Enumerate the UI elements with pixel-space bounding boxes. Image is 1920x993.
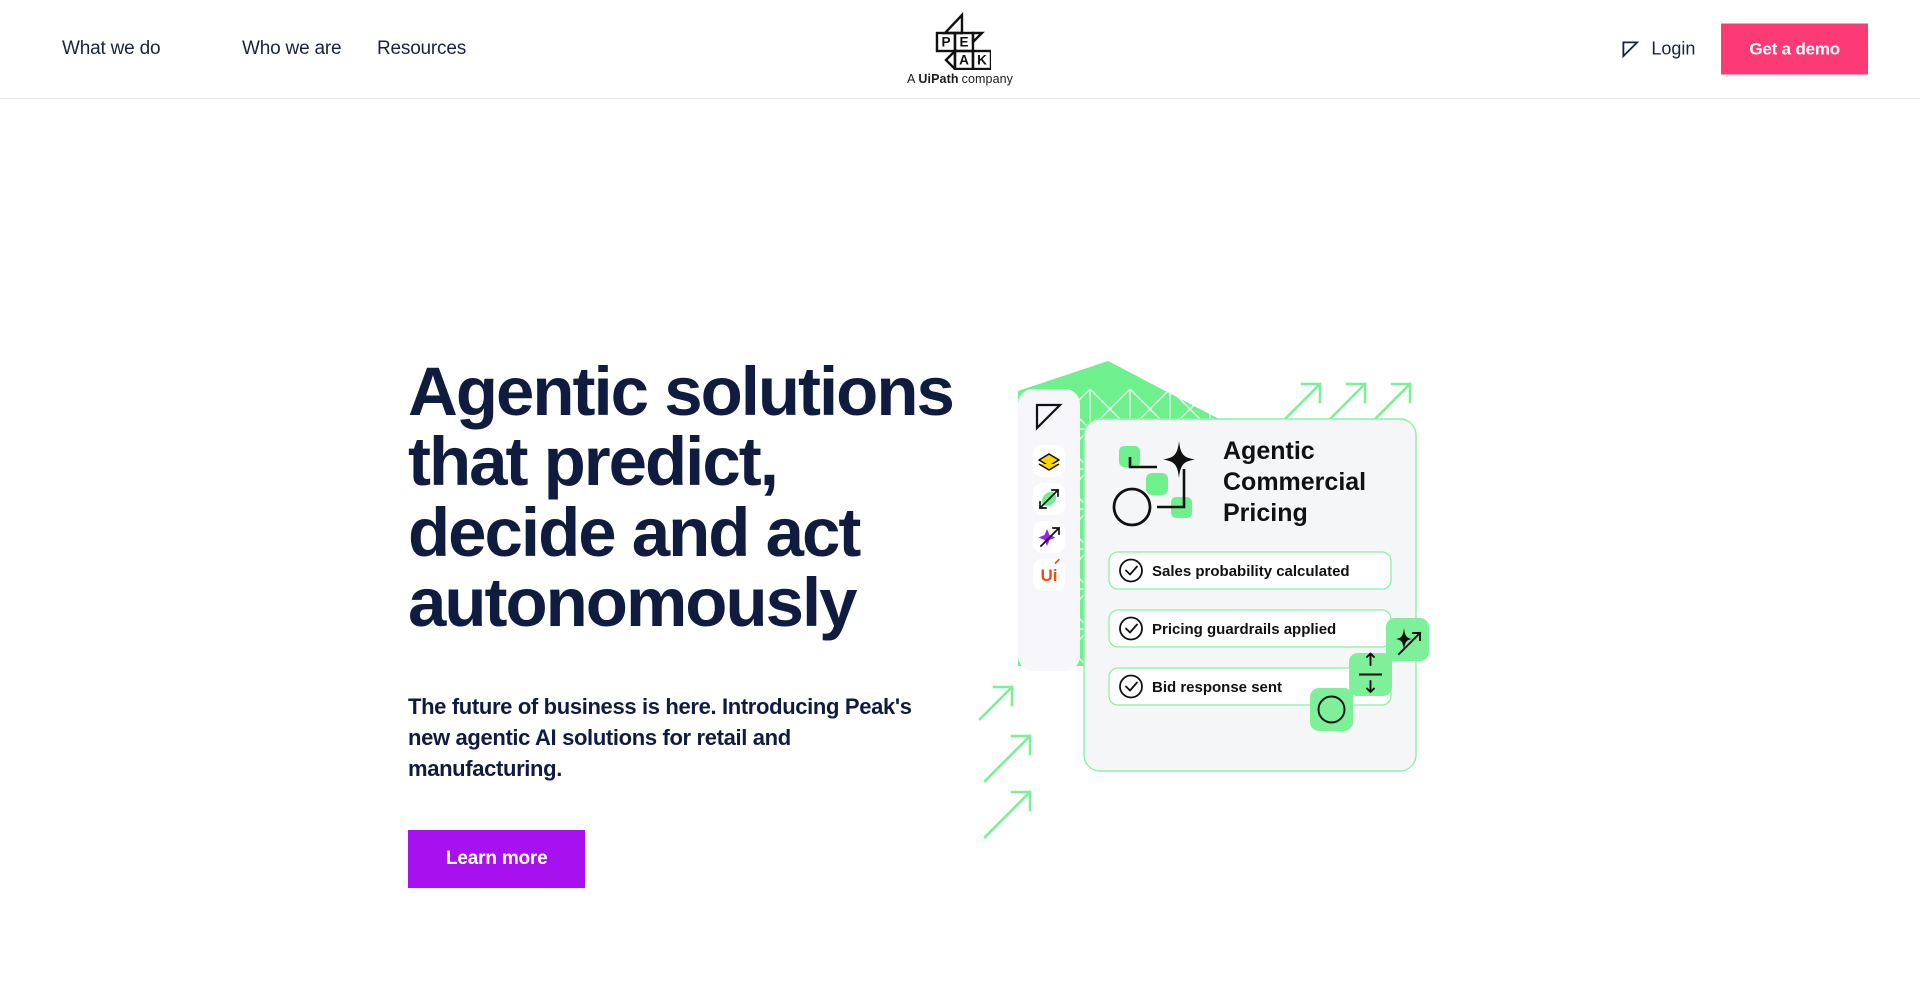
peak-logo-mark: P E A K	[929, 12, 991, 70]
hero-illustration: Ui Agentic	[980, 369, 1520, 899]
primary-navigation: What we do Who we are Resources	[62, 38, 466, 60]
sparkle-arrow-icon[interactable]	[1033, 521, 1065, 553]
sparkle-arrow-badge[interactable]	[1386, 618, 1429, 661]
layers-diamond-icon[interactable]	[1033, 445, 1065, 477]
learn-more-button[interactable]: Learn more	[408, 830, 585, 888]
header-actions: Login Get a demo	[1621, 24, 1868, 75]
step-row[interactable]: Pricing guardrails applied	[1109, 610, 1391, 647]
headline-line-3: decide and act	[408, 494, 859, 571]
nav-item-who-we-are[interactable]: Who we are	[242, 38, 377, 60]
logo-tagline-brand: UiPath	[918, 72, 958, 86]
svg-text:P: P	[941, 35, 950, 50]
uipath-ui-icon[interactable]: Ui	[1033, 559, 1065, 591]
page-title: Agentic solutions that predict, decide a…	[408, 357, 968, 639]
hero-copy: Agentic solutions that predict, decide a…	[408, 357, 968, 888]
logo-tagline-suffix: company	[962, 72, 1013, 86]
svg-text:E: E	[959, 35, 968, 50]
card-title-line-2: Commercial	[1223, 468, 1366, 496]
resize-arrows-icon[interactable]	[1033, 483, 1065, 515]
svg-text:K: K	[977, 53, 987, 68]
app-sidebar-panel: Ui	[1018, 389, 1080, 671]
hero-subhead: The future of business is here. Introduc…	[408, 691, 948, 785]
headline-line-2: that predict,	[408, 423, 777, 500]
peak-logo[interactable]: P E A K A UiPath company	[907, 12, 1013, 86]
login-label: Login	[1651, 39, 1695, 60]
login-triangle-icon	[1621, 40, 1640, 59]
sort-arrows-badge[interactable]	[1349, 653, 1392, 696]
get-a-demo-button[interactable]: Get a demo	[1721, 24, 1868, 75]
card-title-line-3: Pricing	[1223, 499, 1308, 527]
circle-badge[interactable]	[1310, 688, 1353, 731]
agentic-pricing-card: Agentic Commercial Pricing Sales probabi…	[1084, 419, 1416, 771]
step-row[interactable]: Sales probability calculated	[1109, 552, 1391, 589]
card-title-line-1: Agentic	[1223, 437, 1315, 465]
login-link[interactable]: Login	[1621, 39, 1695, 60]
site-header: What we do Who we are Resources P E A K …	[0, 0, 1920, 99]
step-label: Bid response sent	[1152, 679, 1282, 696]
decor-arrows-bottom	[980, 687, 1030, 837]
svg-text:A: A	[959, 53, 969, 68]
nav-item-resources[interactable]: Resources	[377, 38, 466, 60]
nav-item-what-we-do[interactable]: What we do	[62, 38, 242, 60]
logo-tagline: A UiPath company	[907, 72, 1013, 86]
hero-section: Agentic solutions that predict, decide a…	[0, 99, 1920, 993]
logo-tagline-prefix: A	[907, 72, 915, 86]
headline-line-1: Agentic solutions	[408, 353, 953, 430]
agentic-pricing-illustration: Ui Agentic	[980, 369, 1520, 899]
headline-line-4: autonomously	[408, 564, 856, 641]
step-label: Pricing guardrails applied	[1152, 621, 1336, 638]
svg-text:Ui: Ui	[1041, 566, 1058, 585]
step-label: Sales probability calculated	[1152, 563, 1350, 580]
